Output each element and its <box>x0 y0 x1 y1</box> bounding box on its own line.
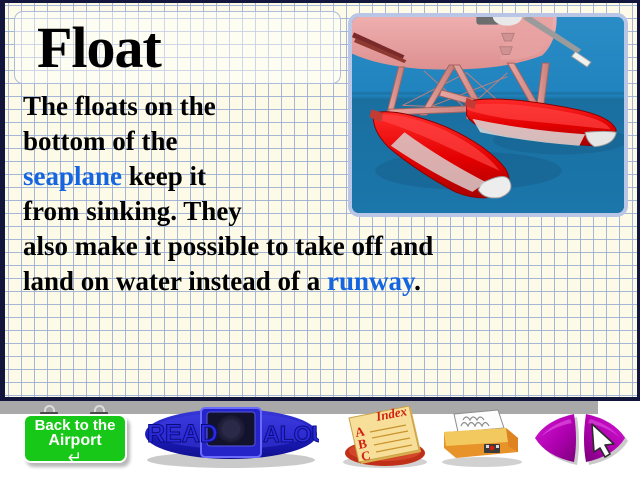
print-button[interactable] <box>432 408 528 468</box>
body-text-run: bottom of the <box>23 126 177 156</box>
content-page: Float The floats on thebottom of theseap… <box>0 0 640 401</box>
body-text-run: The floats on the <box>23 91 216 121</box>
body-text-run: keep it <box>122 161 206 191</box>
body-paragraph-line: also make it possible to take off and <box>23 229 623 264</box>
title-box: Float <box>14 11 341 84</box>
airport-sign: Back to the Airport ↵ <box>23 414 127 463</box>
body-text-run: land on water instead of a <box>23 266 327 296</box>
vocabulary-word[interactable]: seaplane <box>23 161 122 191</box>
body-paragraph-line: land on water instead of a runway. <box>23 264 623 299</box>
vocabulary-word[interactable]: runway <box>327 266 414 296</box>
index-button[interactable]: Index A B C <box>337 404 433 470</box>
return-arrow-icon: ↵ <box>25 448 125 468</box>
prev-page-button[interactable] <box>530 410 582 466</box>
next-page-button[interactable] <box>578 410 636 468</box>
seaplane-floats-illustration <box>348 13 628 217</box>
body-text-run: also make it possible to take off and <box>23 231 433 261</box>
read-aloud-button[interactable]: READ ALOUD <box>143 406 319 468</box>
back-to-airport-button[interactable]: Back to the Airport ↵ <box>20 405 132 465</box>
body-text-run: . <box>414 266 421 296</box>
page-title: Float <box>37 14 161 82</box>
application-window: Float The floats on thebottom of theseap… <box>0 0 640 480</box>
read-aloud-word-left: READ <box>147 420 218 448</box>
read-aloud-word-right: ALOUD <box>263 421 319 447</box>
bottom-toolbar: Back to the Airport ↵ <box>0 414 640 480</box>
body-text-run: from sinking. They <box>23 196 242 226</box>
